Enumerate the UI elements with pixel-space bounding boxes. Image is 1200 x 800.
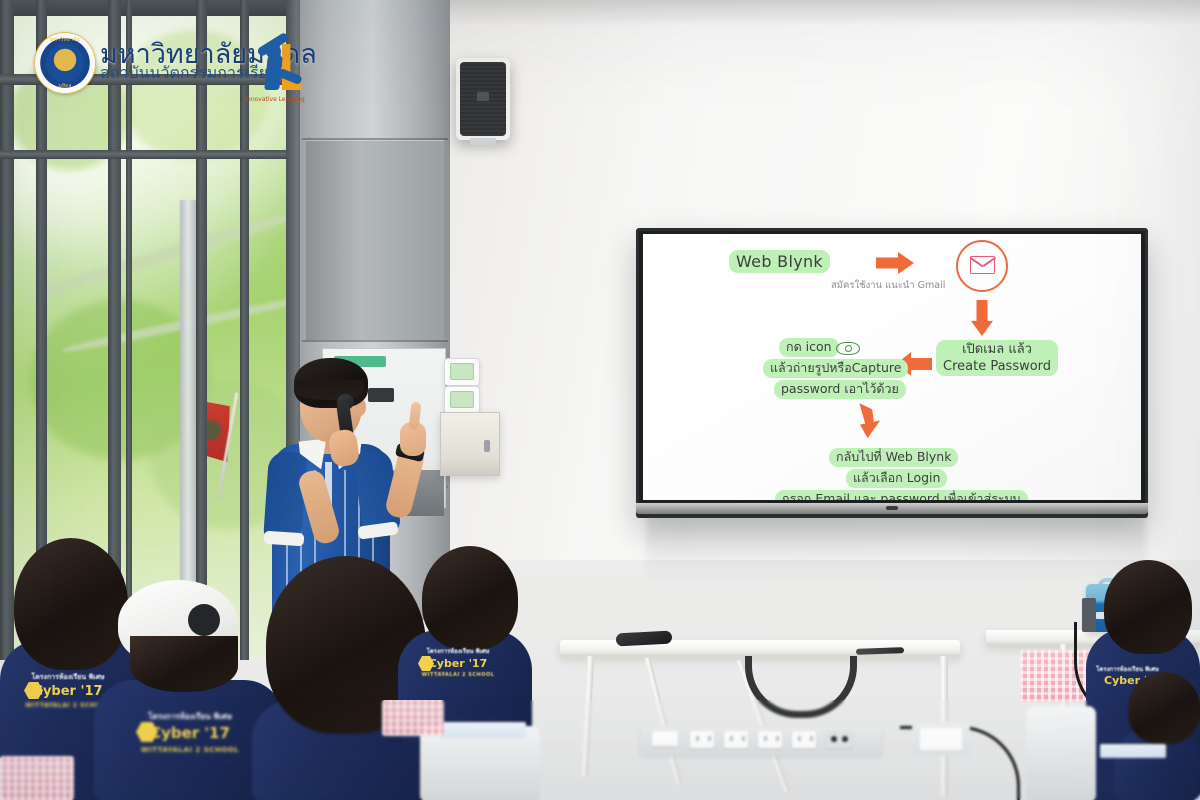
window-transom (0, 150, 306, 159)
worksheet-paper (440, 722, 526, 738)
slide-step3-line3: password เอาไว้ด้วย (774, 380, 906, 399)
slide-step4-line2: แล้วเลือก Login (846, 469, 947, 488)
slide-step2-line2: Create Password (943, 358, 1051, 375)
il-mark-caption: Innovative Learning (242, 96, 308, 103)
outlet-slot (696, 736, 699, 741)
slide-step1-label: Web Blynk (729, 250, 830, 273)
column-seam (302, 340, 448, 342)
pink-basket (0, 756, 74, 800)
av-port (842, 736, 848, 742)
av-port (831, 736, 837, 742)
shirt-line1: โครงการห้องเรียน พิเศษ (110, 710, 270, 723)
arrow-right-icon (876, 252, 914, 274)
slide-step3-line1: กด icon (779, 338, 839, 357)
seal-bottom-text: มหิดล (34, 82, 96, 90)
arrow-down-right-icon (850, 403, 881, 440)
outlet-slot (742, 736, 745, 741)
seal-top-text: มหาวิทยาลัย (34, 36, 96, 44)
ceiling-shadow (430, 0, 1200, 26)
cap-back-opening (188, 604, 220, 636)
speaker-bracket (470, 138, 496, 145)
window-mullion (196, 0, 207, 660)
slide-step2-line1: เปิดเมล แล้ว (943, 341, 1051, 358)
slide-arrow1-caption: สมัครใช้งาน แนะนำ Gmail (831, 278, 945, 293)
outlet-slot (798, 736, 801, 741)
display-wall-shadow (646, 516, 1146, 586)
student-hair (1104, 560, 1192, 654)
classroom-photo: Web Blynk สมัครใช้งาน แนะนำ Gmail เปิดเม… (0, 0, 1200, 800)
university-seal-emblem (46, 44, 84, 82)
column-panel (306, 140, 444, 340)
display-ir-sensor (886, 506, 898, 510)
shirt-brand: Cyber '17 (110, 724, 270, 742)
column-seam (302, 138, 448, 140)
shirt-line3: WITTAYALAI 2 SCHOOL (110, 746, 270, 754)
eye-pupil-icon (845, 345, 852, 352)
student-hair (14, 538, 128, 670)
power-outlet[interactable] (920, 728, 962, 750)
shirt-line1: โครงการห้องเรียน พิเศษ (4, 672, 132, 683)
shirt-line1: โครงการห้องเรียน พิเศษ (400, 646, 516, 656)
outlet-slot (730, 736, 733, 741)
outlet-slot (708, 736, 711, 741)
display-screen: Web Blynk สมัครใช้งาน แนะนำ Gmail เปิดเม… (643, 234, 1141, 500)
pink-basket (382, 700, 444, 736)
av-port-plate[interactable] (826, 731, 852, 748)
slide-step3-line2: แล้วถ่ายรูปหรือCapture (763, 359, 908, 378)
window-mullion (126, 0, 132, 660)
presenter-hair-fringe (296, 380, 364, 400)
outlet-slot (764, 736, 767, 741)
classroom-chair (1026, 706, 1096, 800)
slide-step4-line3: กรอก Email และ password เพื่อเข้าสู่ระบบ (775, 490, 1028, 500)
presenter-cuff-left (264, 531, 305, 547)
speaker-logo (477, 92, 489, 101)
slide-step2: เปิดเมล แล้ว Create Password (936, 340, 1058, 376)
worksheet-paper (1100, 744, 1166, 758)
student-hair (130, 636, 238, 692)
slide-step4-line1: กลับไปที่ Web Blynk (829, 448, 958, 467)
arrow-down-icon (971, 300, 993, 336)
student-hair (1128, 672, 1200, 744)
shirt-line3: WITTAYALAI 2 SCHOOL (400, 672, 516, 678)
shirt-brand: Cyber '17 (400, 657, 516, 670)
outlet-slot (776, 736, 779, 741)
light-switch[interactable] (652, 731, 678, 746)
student-hair (422, 546, 518, 650)
envelope-icon (970, 256, 995, 274)
shirt-line1: โครงการห้องเรียน พิเศษ (1096, 664, 1196, 674)
window-mullion (0, 0, 14, 660)
cabinet-latch[interactable] (484, 440, 490, 452)
outlet-slot (810, 736, 813, 741)
